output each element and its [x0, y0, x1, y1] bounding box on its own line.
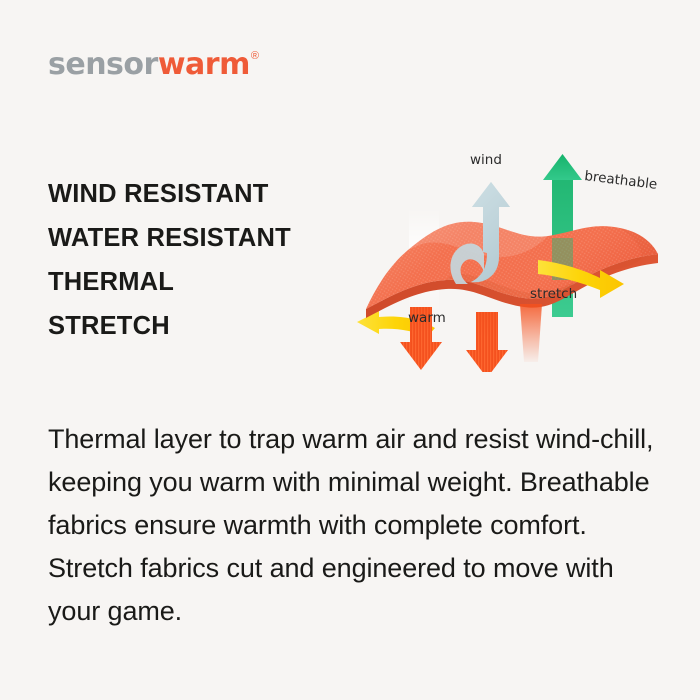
label-warm: warm — [408, 310, 446, 326]
brand-logo-sensor: sensor — [48, 47, 158, 82]
brand-logo-warm: warm — [158, 47, 250, 82]
headline-line-4: STRETCH — [48, 304, 378, 348]
warm-plume-faded — [520, 304, 542, 362]
feature-description: Thermal layer to trap warm air and resis… — [48, 418, 658, 633]
headline-line-3: THERMAL — [48, 260, 378, 304]
brand-logo: sensorwarm® — [48, 50, 257, 80]
headline-line-1: WIND RESISTANT — [48, 172, 378, 216]
product-feature-card: sensorwarm® WIND RESISTANT WATER RESISTA… — [0, 0, 700, 700]
label-breathable: breathable — [584, 168, 659, 193]
registered-trademark-icon: ® — [251, 50, 259, 62]
label-stretch: stretch — [530, 286, 577, 302]
feature-headline: WIND RESISTANT WATER RESISTANT THERMAL S… — [48, 172, 378, 348]
label-wind: wind — [470, 152, 502, 168]
warm-arrow-2-icon — [466, 312, 508, 372]
fabric-technology-diagram: wind breathable stretch warm — [352, 132, 672, 372]
headline-line-2: WATER RESISTANT — [48, 216, 378, 260]
